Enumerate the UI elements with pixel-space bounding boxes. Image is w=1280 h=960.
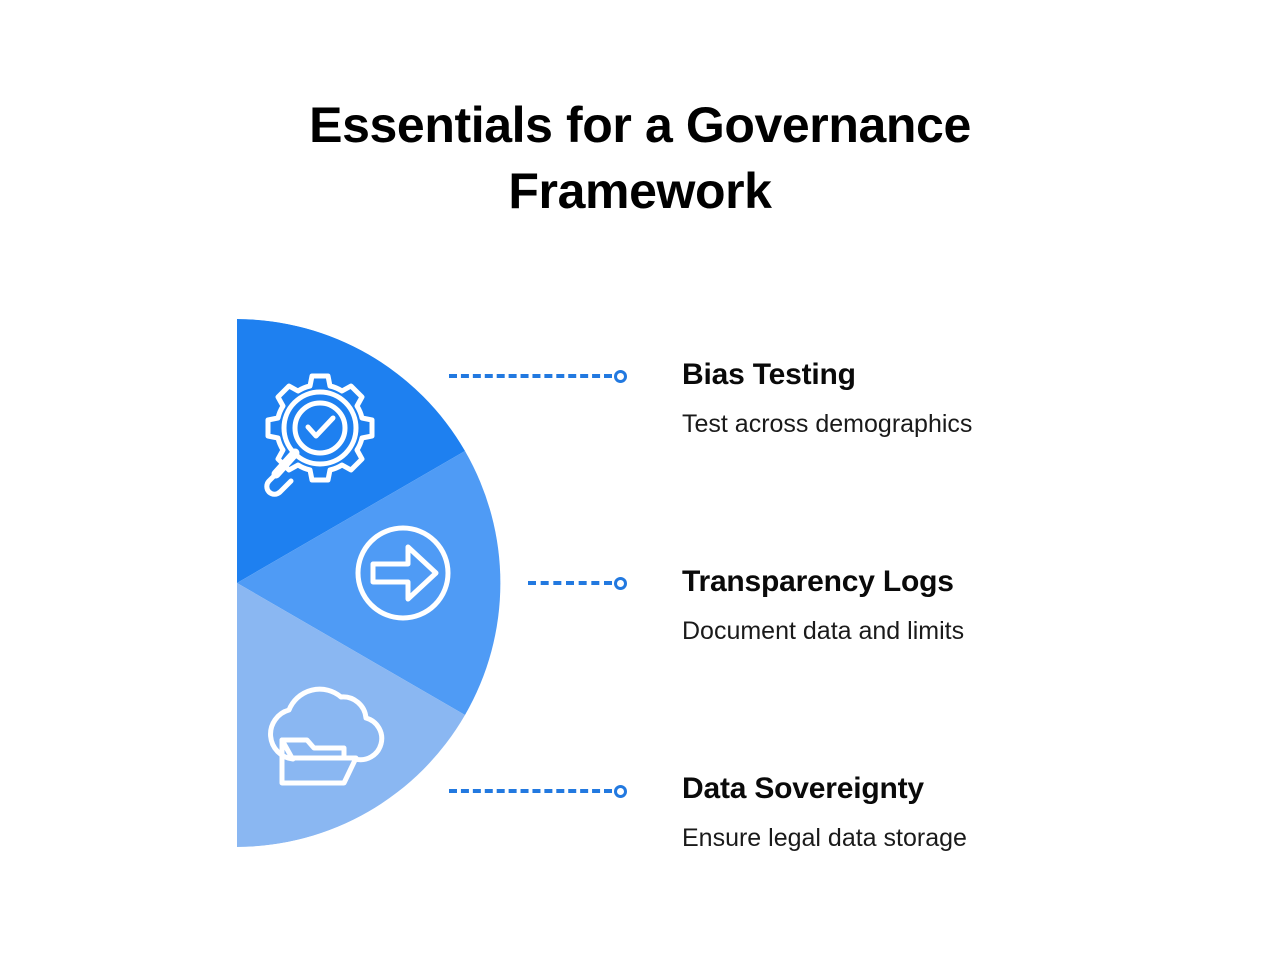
infographic-canvas: Essentials for a Governance Framework [0,0,1280,960]
item-description: Ensure legal data storage [682,823,1152,853]
list-item: Data Sovereignty Ensure legal data stora… [682,771,1152,853]
connector-bias-testing [449,366,627,386]
item-title: Data Sovereignty [682,771,1152,806]
connector-transparency-logs [528,573,627,593]
item-description: Document data and limits [682,616,1152,646]
item-title: Bias Testing [682,357,1152,392]
dashed-line-icon [528,581,612,585]
connector-data-sovereignty [449,781,627,801]
list-item: Bias Testing Test across demographics [682,357,1152,439]
endpoint-dot-icon [614,785,627,798]
dashed-line-icon [449,374,612,378]
list-item: Transparency Logs Document data and limi… [682,564,1152,646]
page-title: Essentials for a Governance Framework [240,92,1040,224]
endpoint-dot-icon [614,370,627,383]
endpoint-dot-icon [614,577,627,590]
dashed-line-icon [449,789,612,793]
item-description: Test across demographics [682,409,1152,439]
item-title: Transparency Logs [682,564,1152,599]
